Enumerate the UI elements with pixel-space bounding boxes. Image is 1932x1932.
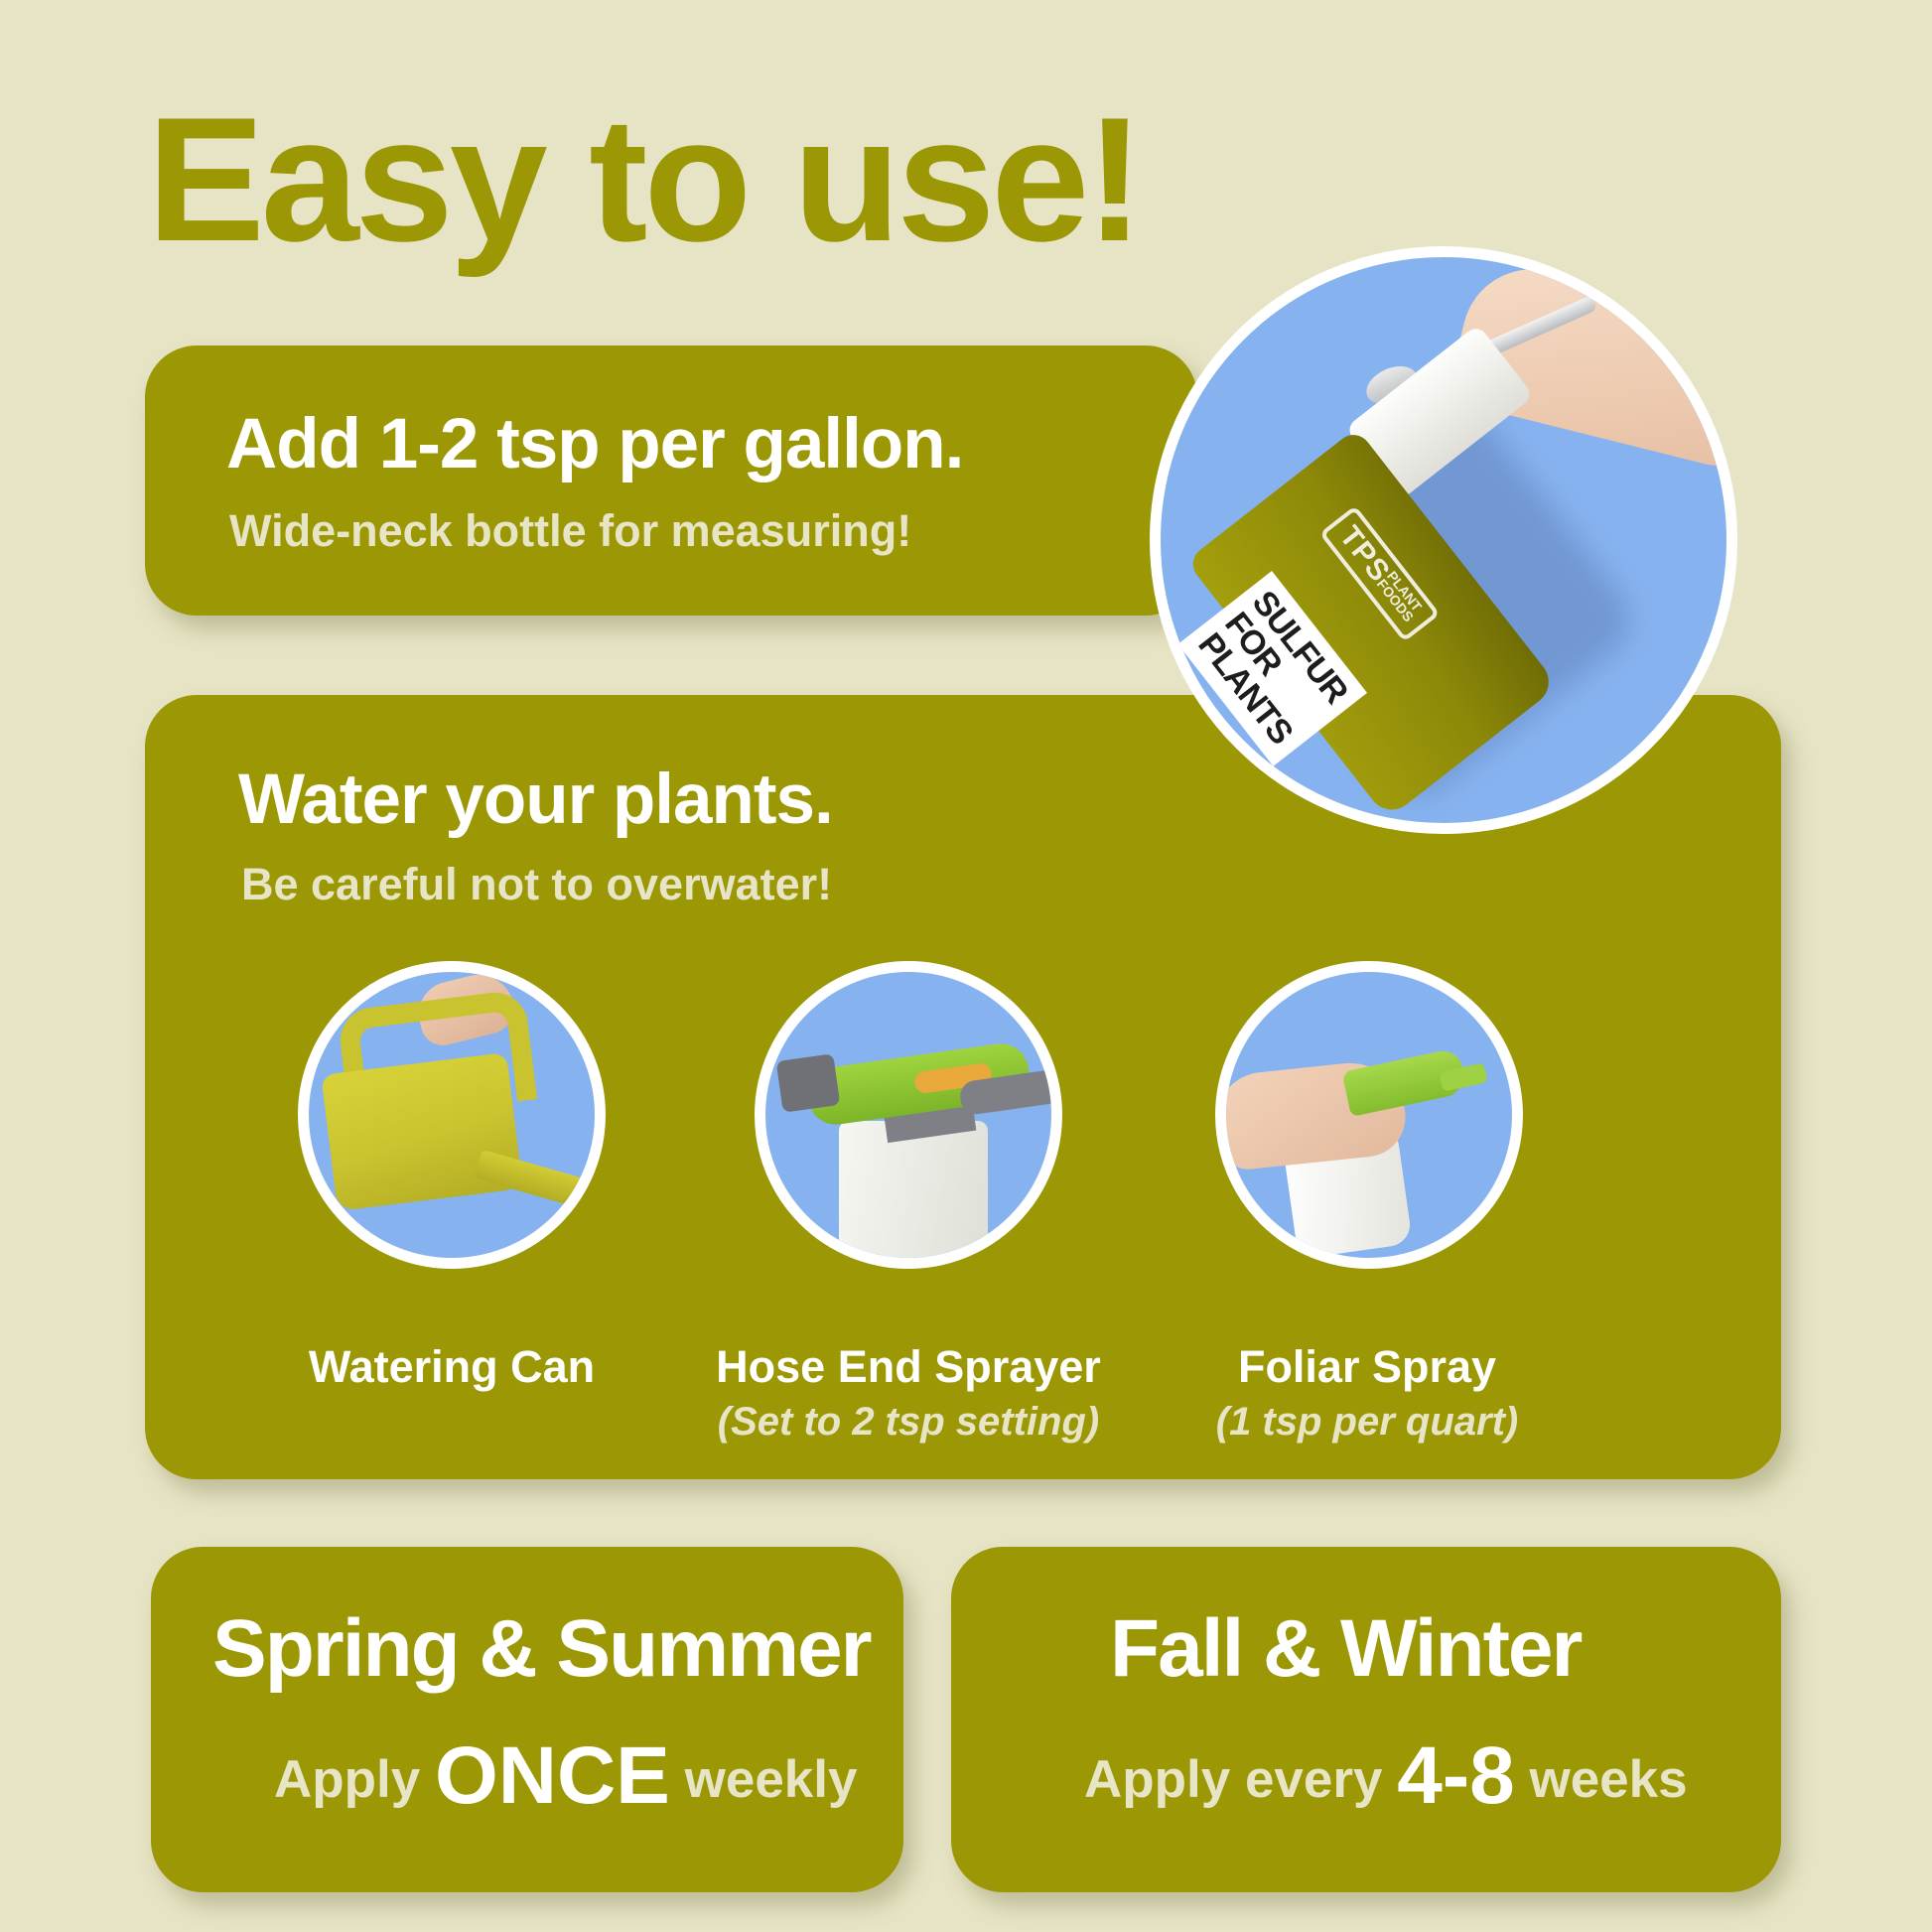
- season-card-spring-summer: [151, 1547, 903, 1892]
- foliar-spray-photo: [1215, 961, 1523, 1269]
- tool-label-hose-end-sprayer: Hose End Sprayer (Set to 2 tsp setting): [695, 1342, 1122, 1445]
- frequency-emphasis: 4-8: [1397, 1730, 1515, 1821]
- product-bottle-photo: TPSPLANTFOODS SULFUR FOR PLANTS: [1150, 246, 1737, 834]
- frequency-emphasis: ONCE: [435, 1730, 670, 1821]
- watering-can-body: [321, 1052, 522, 1211]
- step1-title: Add 1-2 tsp per gallon.: [226, 409, 963, 480]
- hose-end-sprayer-photo: [755, 961, 1062, 1269]
- season-card-fall-winter: [951, 1547, 1781, 1892]
- sprayer-tank: [839, 1121, 988, 1269]
- frequency-prefix: Apply: [274, 1750, 420, 1809]
- fall-winter-title: Fall & Winter: [1110, 1608, 1581, 1690]
- page-title: Easy to use!: [147, 91, 1141, 268]
- sprayer-nozzle: [776, 1053, 841, 1113]
- tool-label-text: Foliar Spray: [1238, 1341, 1496, 1392]
- step1-subtitle: Wide-neck bottle for measuring!: [229, 508, 911, 553]
- tool-label-text: Watering Can: [309, 1341, 595, 1392]
- infographic-stage: Easy to use! Add 1-2 tsp per gallon. Wid…: [0, 0, 1932, 1932]
- bottle-illustration: TPSPLANTFOODS SULFUR FOR PLANTS: [1161, 257, 1726, 823]
- tool-label-foliar-spray: Foliar Spray (1 tsp per quart): [1154, 1342, 1581, 1445]
- step2-title: Water your plants.: [238, 764, 833, 835]
- tool-label-note: (1 tsp per quart): [1154, 1400, 1581, 1445]
- tool-label-text: Hose End Sprayer: [716, 1341, 1101, 1392]
- spring-summer-title: Spring & Summer: [212, 1608, 871, 1690]
- fall-winter-frequency: Apply every 4-8 weeks: [1084, 1735, 1688, 1817]
- spring-summer-frequency: Apply ONCE weekly: [274, 1735, 857, 1817]
- frequency-suffix: weekly: [685, 1750, 858, 1809]
- frequency-suffix: weeks: [1529, 1750, 1687, 1809]
- frequency-prefix: Apply every: [1084, 1750, 1382, 1809]
- tool-label-note: (Set to 2 tsp setting): [695, 1400, 1122, 1445]
- watering-can-photo: [298, 961, 606, 1269]
- step2-subtitle: Be careful not to overwater!: [241, 862, 832, 906]
- tool-label-watering-can: Watering Can: [238, 1342, 665, 1392]
